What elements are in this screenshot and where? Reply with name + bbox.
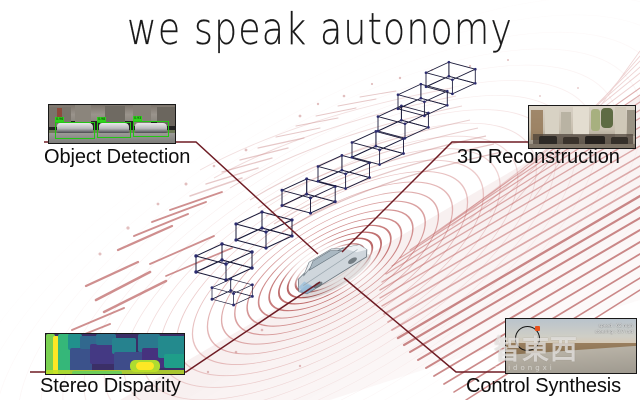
control-synthesis-thumbnail: speed : 62 mph steering : 0.7 rad xyxy=(505,318,637,374)
od-score-tag-1: 0.96 xyxy=(55,117,64,122)
hud-steering: steering : 0.7 rad xyxy=(595,330,633,336)
rc-building xyxy=(561,112,571,136)
slide-canvas: we speak autonomy xyxy=(0,0,640,400)
rc-building xyxy=(627,110,636,136)
stereo-disparity-thumbnail xyxy=(45,333,185,375)
caption-control-synthesis: Control Synthesis xyxy=(466,374,621,398)
control-hud: speed : 62 mph steering : 0.7 rad xyxy=(595,324,633,336)
steering-indicator-dot xyxy=(535,326,540,331)
rc-tree xyxy=(601,108,613,128)
od-score-tag-2: 0.98 xyxy=(97,117,106,122)
3d-reconstruction-thumbnail xyxy=(528,105,636,149)
object-detection-thumbnail: 0.96 0.98 0.93 xyxy=(48,104,176,144)
rc-building xyxy=(615,107,626,137)
rc-tree xyxy=(591,109,600,131)
rc-building xyxy=(573,107,589,135)
sd-region-object xyxy=(136,362,154,370)
caption-3d-reconstruction: 3D Reconstruction xyxy=(457,145,620,169)
od-score-tag-3: 0.93 xyxy=(133,116,142,121)
od-bbox xyxy=(133,121,169,137)
rc-building xyxy=(545,108,559,134)
od-bbox xyxy=(97,122,131,138)
od-bbox xyxy=(55,122,95,139)
sd-region xyxy=(164,354,185,368)
caption-stereo-disparity: Stereo Disparity xyxy=(40,374,181,398)
caption-object-detection: Object Detection xyxy=(44,145,190,169)
